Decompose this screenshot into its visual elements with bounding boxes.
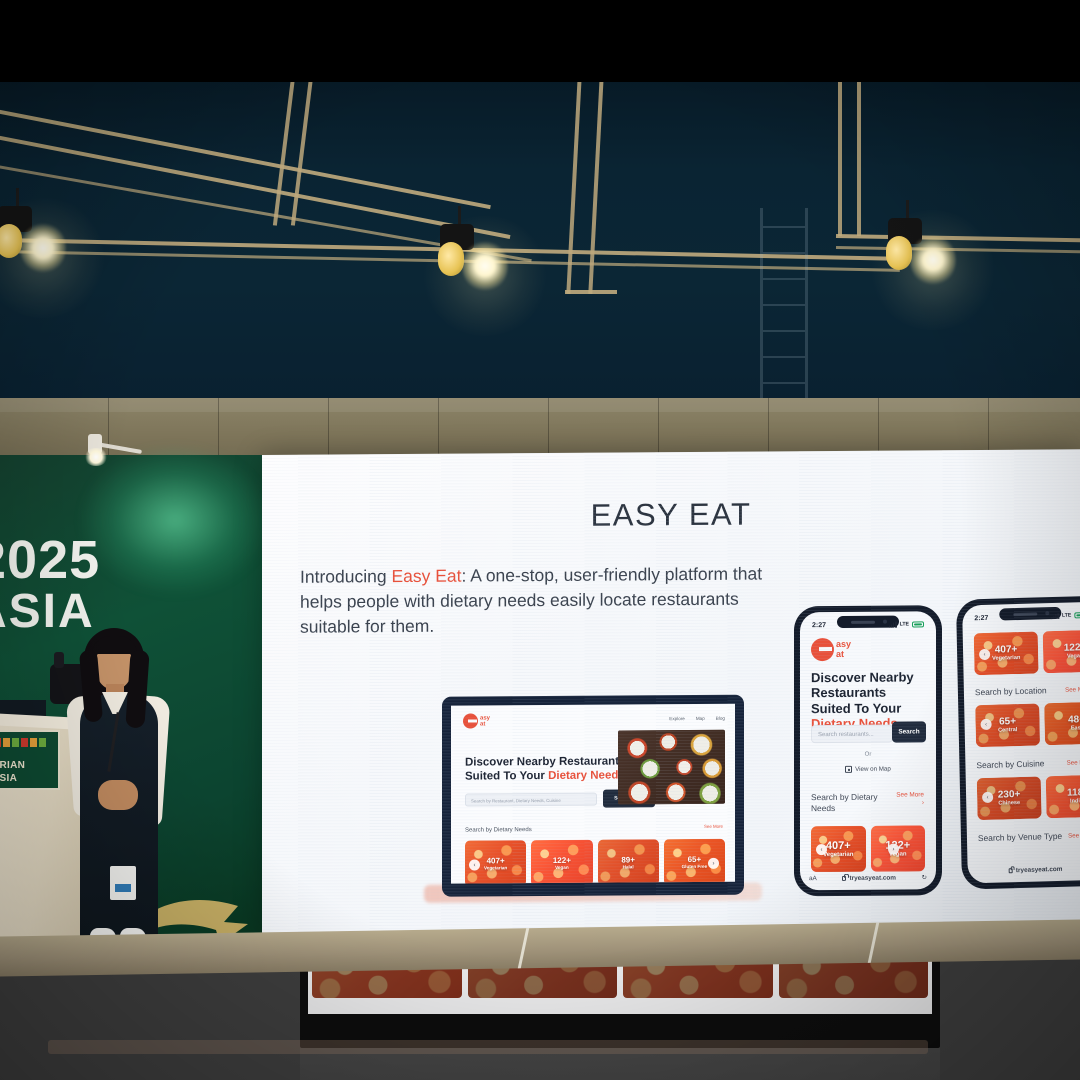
- lower-wall-right: [940, 946, 1080, 1080]
- card-count: 89+: [598, 855, 659, 864]
- card-category: Indian: [1046, 797, 1080, 805]
- ceiling-ladder: [760, 208, 808, 423]
- ceiling: [0, 78, 1080, 408]
- phone-screen: 2:27 LTE: [962, 602, 1080, 884]
- lower-wall-band: [48, 1040, 928, 1054]
- card-count: 118+: [1046, 786, 1080, 799]
- status-time: 2:27: [974, 614, 988, 621]
- attendee-badge: [110, 866, 136, 900]
- phone-search-input[interactable]: Search restaurants...: [811, 725, 893, 744]
- text-size-button[interactable]: aA: [809, 875, 817, 882]
- see-more-link[interactable]: See More: [1067, 758, 1080, 766]
- category-card[interactable]: 89+ Halal: [598, 839, 659, 883]
- logo-line1: asy: [480, 715, 490, 721]
- laptop-search-placeholder: Search by Restaurant, Dietary Needs, Cui…: [471, 797, 561, 803]
- slide-title: EASY EAT: [262, 494, 1080, 536]
- card-category: East: [1045, 725, 1080, 733]
- address-bar[interactable]: tryeasyeat.com: [1009, 865, 1063, 873]
- laptop-mockup: asy at Explore Map Blog Discover Nearby …: [442, 695, 744, 897]
- category-card[interactable]: 118+ Indian: [1046, 774, 1080, 818]
- nav-item-map[interactable]: Map: [696, 716, 705, 721]
- category-card[interactable]: 122+ Vegan: [531, 840, 592, 884]
- slide: EASY EAT Introducing Easy Eat: A one-sto…: [262, 449, 1080, 935]
- section-label: Search by Cuisine: [976, 758, 1044, 770]
- phone-mockup-two: 2:27 LTE: [956, 596, 1080, 890]
- presenter-person: [62, 628, 182, 953]
- address-bar-url: tryeasyeat.com: [1016, 865, 1063, 873]
- card-category: Vegan: [1043, 653, 1080, 661]
- section-label: Search by Venue Type: [978, 831, 1062, 843]
- see-more-label: See More: [896, 791, 924, 798]
- logo-line2: at: [836, 649, 851, 659]
- truss-post: [838, 76, 842, 236]
- nav-item-explore[interactable]: Explore: [669, 716, 685, 721]
- phone-see-more-link[interactable]: See More ›: [896, 791, 924, 808]
- carousel-prev-icon[interactable]: ‹: [816, 844, 827, 855]
- network-label: LTE: [1062, 613, 1072, 619]
- phone-section-label: Search by Dietary Needs: [811, 792, 891, 814]
- section-label: Search by Location: [975, 685, 1047, 697]
- card-count: 122+: [1043, 642, 1080, 655]
- view-on-map-link[interactable]: View on Map: [800, 765, 936, 773]
- truss-post: [273, 76, 295, 225]
- logo-mark-icon: [811, 638, 834, 661]
- podium-sign-line1: ARIAN: [0, 760, 25, 771]
- laptop-see-more-link[interactable]: See More: [704, 824, 723, 829]
- carousel-next-icon[interactable]: ›: [888, 844, 899, 855]
- lock-icon: [842, 875, 846, 880]
- see-more-link[interactable]: See More: [1065, 685, 1080, 693]
- category-card[interactable]: 48+ East: [1044, 702, 1080, 746]
- phone-screen: 2:27 LTE asy at: [800, 611, 936, 890]
- laptop-search-input[interactable]: Search by Restaurant, Dietary Needs, Cui…: [465, 793, 597, 807]
- laptop-section-label: Search by Dietary Needs: [465, 827, 532, 833]
- card-category: Halal: [598, 864, 659, 869]
- divider-label: Or: [800, 751, 936, 758]
- carousel-next-icon[interactable]: ›: [708, 858, 719, 869]
- podium-sign-line2: ASIA: [0, 773, 17, 784]
- slide-brand-name: Easy Eat: [391, 566, 461, 586]
- status-time: 2:27: [812, 622, 826, 629]
- lock-icon: [1009, 868, 1013, 873]
- slide-body-lead: Introducing: [300, 566, 391, 587]
- address-bar-url: tryeasyeat.com: [849, 874, 896, 881]
- phone-mockup-one: 2:27 LTE asy at: [794, 605, 942, 896]
- truss-beam: [0, 106, 491, 209]
- address-bar[interactable]: tryeasyeat.com: [842, 874, 896, 881]
- carousel-prev-icon[interactable]: ‹: [469, 859, 480, 870]
- card-count: 48+: [1044, 714, 1080, 727]
- conference-photo-scene: 2025 ASIA ARIAN ASIA: [0, 0, 1080, 1080]
- battery-icon: [1074, 612, 1080, 618]
- card-count: 122+: [531, 856, 592, 865]
- slide-body-text: Introducing Easy Eat: A one-stop, user-f…: [300, 561, 765, 639]
- category-card[interactable]: 122+ Vegan: [1043, 630, 1080, 674]
- truss-beam: [565, 290, 617, 294]
- headline-line-3: Suited To Your: [811, 700, 929, 716]
- podium-logo-sign: ARIAN ASIA: [0, 730, 60, 790]
- wall-light-fixture: [82, 432, 152, 468]
- section-header-location: Search by Location See More: [975, 684, 1080, 697]
- signal-bars-icon: [1051, 613, 1059, 619]
- letterbox-top: [0, 0, 1080, 82]
- site-nav[interactable]: Explore Map Blog: [669, 716, 725, 721]
- signal-bars-icon: [889, 622, 897, 628]
- headline-line-2-accent: Dietary Needs: [548, 769, 625, 782]
- nav-item-blog[interactable]: Blog: [716, 716, 725, 721]
- map-icon: [845, 766, 852, 773]
- logo-line2: at: [480, 721, 490, 727]
- phone-browser-bar: tryeasyeat.com: [968, 860, 1080, 880]
- phone-browser-bar: aA tryeasyeat.com ↻: [800, 869, 936, 886]
- easyeat-logo[interactable]: asy at: [811, 638, 851, 661]
- section-header-venue-type: Search by Venue Type See More: [978, 830, 1080, 843]
- headline-line-2-plain: Suited To Your: [465, 770, 548, 783]
- phone-search-placeholder: Search restaurants...: [818, 731, 874, 737]
- view-on-map-label: View on Map: [855, 766, 891, 773]
- hero-food-photo: [618, 730, 725, 805]
- network-label: LTE: [900, 621, 909, 627]
- battery-icon: [912, 621, 924, 627]
- phone-category-carousel: 407+ Vegetarian 122+ Vegan: [811, 825, 925, 872]
- headline-line-1: Discover Nearby: [811, 669, 929, 685]
- phone-search-button[interactable]: Search: [892, 721, 926, 742]
- truss-post: [588, 76, 603, 294]
- reload-icon[interactable]: ↻: [922, 873, 927, 881]
- easyeat-logo[interactable]: asy at: [463, 713, 490, 728]
- card-category: Vegan: [531, 865, 592, 870]
- logo-mark-icon: [463, 713, 478, 728]
- section-header-cuisine: Search by Cuisine See More: [976, 757, 1080, 770]
- presentation-screen: EASY EAT Introducing Easy Eat: A one-sto…: [262, 449, 1080, 935]
- headline-line-2: Restaurants: [811, 685, 929, 701]
- truss-post: [291, 76, 313, 225]
- laptop-screen: asy at Explore Map Blog Discover Nearby …: [451, 704, 735, 884]
- phone-status-bar: 2:27 LTE: [962, 608, 1080, 626]
- see-more-arrow-icon: ›: [922, 800, 924, 807]
- see-more-link[interactable]: See More: [1068, 831, 1080, 839]
- backdrop-year: 2025: [0, 529, 100, 591]
- phone-status-bar: 2:27 LTE: [800, 617, 936, 632]
- laptop-category-carousel: 407+ Vegetarian 122+ Vegan: [465, 839, 725, 884]
- truss-post: [857, 76, 861, 236]
